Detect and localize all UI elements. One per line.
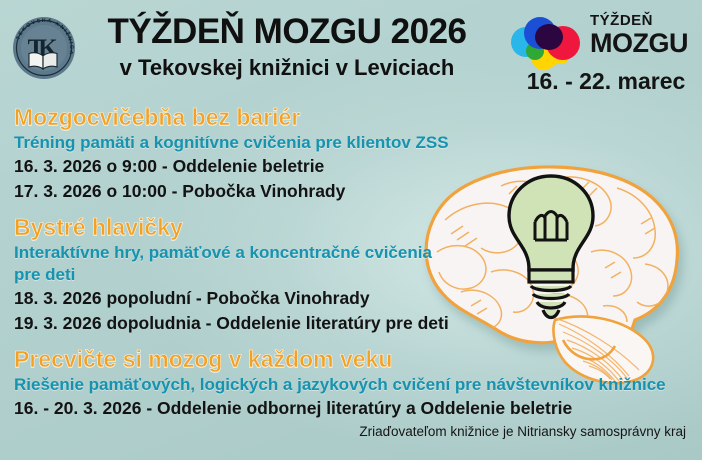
section-2-line-2: 19. 3. 2026 dopoludnia - Oddelenie liter… (14, 311, 674, 336)
page-subtitle: v Tekovskej knižnici v Leviciach (82, 54, 492, 82)
section-1-line-2: 17. 3. 2026 o 10:00 - Pobočka Vinohrady (14, 179, 674, 204)
brand-logo: TÝŽDEŇ MOZGU 16. - 22. marec (500, 6, 700, 94)
brand-wordmark: TÝŽDEŇ MOZGU (590, 12, 698, 58)
library-seal-icon: TEKOVSKÁ KNIŽNICA T K (10, 14, 78, 82)
brand-dates: 16. - 22. marec (510, 68, 702, 95)
brain-circles-icon (504, 10, 588, 76)
section-3-subtitle: Riešenie pamäťových, logických a jazykov… (14, 374, 674, 396)
title-block: TÝŽDEŇ MOZGU 2026 v Tekovskej knižnici v… (82, 12, 492, 82)
section-2-line-1: 18. 3. 2026 popoludní - Pobočka Vinohrad… (14, 286, 674, 311)
poster-content: Mozgocvičebňa bez bariér Tréning pamäti … (14, 100, 674, 425)
footer-note: Zriaďovateľom knižnice je Nitriansky sam… (0, 424, 686, 439)
section-3-heading: Precvičte si mozog v každom veku (14, 344, 674, 374)
section-3-line-1: 16. - 20. 3. 2026 - Oddelenie odbornej l… (14, 396, 674, 421)
brand-wordmark-bottom: MOZGU (590, 29, 698, 58)
section-1-subtitle: Tréning pamäti a kognitívne cvičenia pre… (14, 132, 674, 154)
section-1-line-1: 16. 3. 2026 o 9:00 - Oddelenie beletrie (14, 154, 674, 179)
page-title: TÝŽDEŇ MOZGU 2026 (82, 12, 492, 52)
section-3: Precvičte si mozog v každom veku Riešeni… (14, 344, 674, 421)
section-2-subtitle: Interaktívne hry, pamäťové a koncentračn… (14, 242, 434, 286)
brand-wordmark-top: TÝŽDEŇ (590, 12, 698, 29)
poster-header: TEKOVSKÁ KNIŽNICA T K TÝŽDEŇ MOZGU 2026 … (0, 0, 702, 96)
section-1: Mozgocvičebňa bez bariér Tréning pamäti … (14, 102, 674, 204)
section-2-heading: Bystré hlavičky (14, 212, 674, 242)
section-2: Bystré hlavičky Interaktívne hry, pamäťo… (14, 212, 674, 336)
poster-root: TEKOVSKÁ KNIŽNICA T K TÝŽDEŇ MOZGU 2026 … (0, 0, 702, 460)
section-1-heading: Mozgocvičebňa bez bariér (14, 102, 674, 132)
